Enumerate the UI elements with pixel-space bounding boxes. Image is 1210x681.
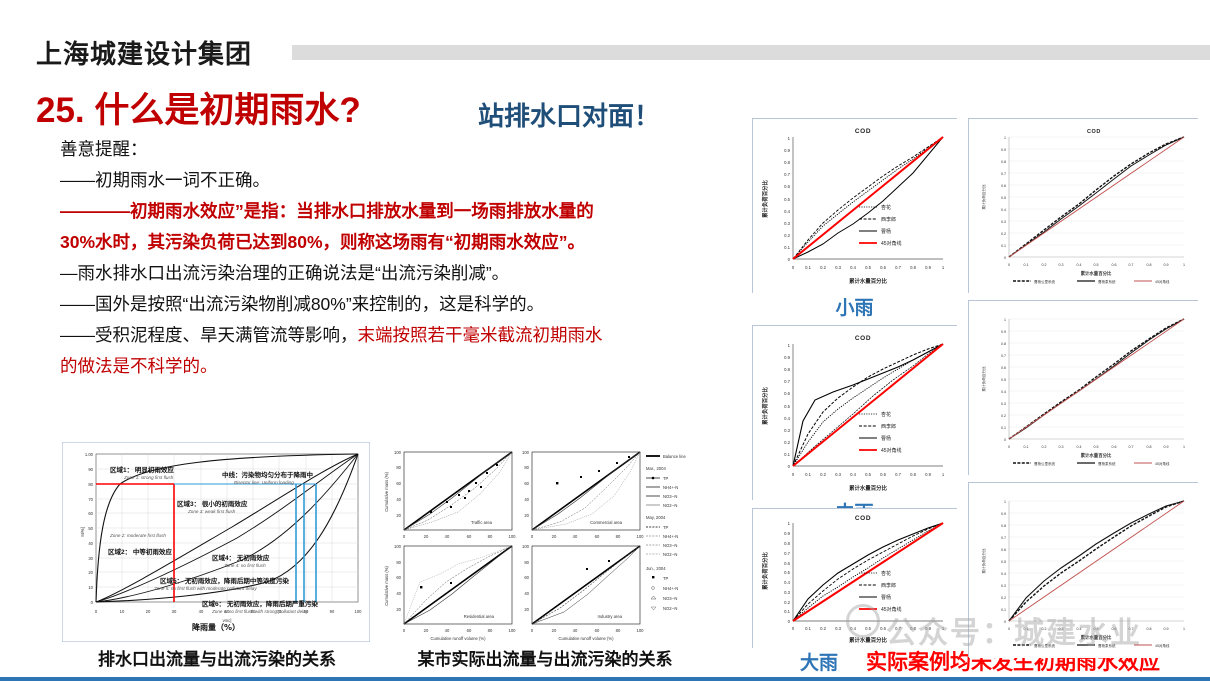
svg-text:0.8: 0.8 <box>1147 445 1152 449</box>
svg-text:0.7: 0.7 <box>1129 263 1134 267</box>
svg-text:0.4: 0.4 <box>1001 208 1006 212</box>
svg-text:0.2: 0.2 <box>820 265 826 270</box>
legend-mar-no3: NO3--N <box>663 494 677 499</box>
header-accent-bar <box>292 45 1210 60</box>
cod-title-1: COD <box>855 128 871 135</box>
cod-ylabel-1: 累计负荷百分比 <box>761 180 769 218</box>
zone-1-label-en: Zone 1: strong first flush <box>124 475 173 480</box>
svg-text:40: 40 <box>445 534 450 539</box>
cod-chart-1-svg: COD 10.90.8 0.70.60.5 0.40.30.2 0.10 00.… <box>753 119 958 294</box>
legend-may-no2: NO2--N <box>663 552 677 557</box>
svg-text:0.2: 0.2 <box>784 600 790 605</box>
svg-text:0.7: 0.7 <box>1001 172 1006 176</box>
svg-text:0.7: 0.7 <box>895 626 901 631</box>
svg-text:0.4: 0.4 <box>1077 627 1082 631</box>
svg-text:80: 80 <box>396 560 401 565</box>
svg-text:0.4: 0.4 <box>784 209 790 214</box>
svg-text:0.9: 0.9 <box>1164 263 1169 267</box>
svg-text:60: 60 <box>595 628 600 633</box>
scatter-panels-svg: 1008060 4020 02040 6080100 Traffic area … <box>380 442 710 642</box>
svg-text:20: 20 <box>552 534 557 539</box>
cod-xlabel-2: 累计水量百分比 <box>849 484 887 492</box>
body-line-7-black: ——受积泥程度、旱天满管流等影响， <box>60 325 358 345</box>
cod-legend-xiliLang-2: 西李郎 <box>881 423 896 430</box>
svg-text:60: 60 <box>467 628 472 633</box>
svg-text:0.9: 0.9 <box>1001 512 1006 516</box>
cod-right-legend-c-1: 45对角线 <box>1155 279 1170 284</box>
body-line-7: ——受积泥程度、旱天满管流等影响，末端按照若干毫米截流初期雨水 <box>60 324 750 346</box>
svg-text:0.2: 0.2 <box>1001 232 1006 236</box>
zone-2-label-cn: 区域2： 中等初雨效应 <box>108 546 172 556</box>
svg-text:80: 80 <box>524 465 529 470</box>
svg-text:20: 20 <box>524 607 529 612</box>
svg-text:0.8: 0.8 <box>784 541 790 546</box>
zone-4-label-en: Zone 4: no first flush <box>224 563 266 568</box>
legend-date-may: May, 2004 <box>646 515 666 520</box>
figure-city-measured: 1008060 4020 02040 6080100 Traffic area … <box>380 442 710 642</box>
svg-text:0.6: 0.6 <box>1001 548 1006 552</box>
svg-text:20: 20 <box>396 607 401 612</box>
cod-chart-light-rain: COD 10.90.8 0.70.60.5 0.40.30.2 0.10 00.… <box>752 118 957 293</box>
scatter-xlabel-right: Cumulative runoff volume (%) <box>558 636 614 641</box>
middle-figure-caption: 某市实际出流量与出流污染的关系 <box>375 645 715 670</box>
cod-legend-xiliLang-3: 西李郎 <box>881 582 896 589</box>
svg-text:0.6: 0.6 <box>1001 366 1006 370</box>
svg-text:0.6: 0.6 <box>880 472 886 477</box>
svg-text:0.9: 0.9 <box>784 148 790 153</box>
svg-text:40: 40 <box>524 591 529 596</box>
svg-text:20: 20 <box>88 570 93 575</box>
svg-text:0.6: 0.6 <box>880 265 886 270</box>
cod-legend-caoyang-3: 曹杨 <box>881 594 891 601</box>
svg-text:60: 60 <box>524 575 529 580</box>
svg-text:0.2: 0.2 <box>784 233 790 238</box>
svg-text:0.1: 0.1 <box>1024 445 1029 449</box>
svg-text:0.1: 0.1 <box>1001 244 1006 248</box>
cod-right-legend-a-1: 曹杨公里系统 <box>1034 279 1055 284</box>
cod-ylabel-3: 累计负荷百分比 <box>761 552 769 590</box>
cod-right-legend-b-3: 曹杨泵系统 <box>1098 643 1116 648</box>
svg-text:0.5: 0.5 <box>784 570 790 575</box>
svg-text:0.5: 0.5 <box>1094 627 1099 631</box>
body-line-6: ——国外是按照“出流污染物削减80%”来控制的，这是科学的。 <box>60 293 750 315</box>
svg-text:100: 100 <box>509 534 517 539</box>
svg-text:100: 100 <box>522 544 530 549</box>
svg-text:0.3: 0.3 <box>1059 263 1064 267</box>
svg-text:0.8: 0.8 <box>1001 342 1006 346</box>
svg-text:40: 40 <box>445 628 450 633</box>
svg-text:0.1: 0.1 <box>784 609 790 614</box>
cod-legend-xiliLang-1: 西李郎 <box>881 216 896 223</box>
svg-text:0.8: 0.8 <box>910 626 916 631</box>
body-text-block: 善意提醒： ——初期雨水一词不正确。 ————初期雨水效应”是指：当排水口排放水… <box>60 138 750 386</box>
svg-text:0.6: 0.6 <box>784 561 790 566</box>
svg-text:0.2: 0.2 <box>784 440 790 445</box>
svg-text:0.5: 0.5 <box>1001 560 1006 564</box>
cod-chart-medium-rain: COD 10.90.8 0.70.60.5 0.40.30.2 0.10 00.… <box>752 325 957 500</box>
svg-text:0.1: 0.1 <box>805 265 811 270</box>
svg-text:0.6: 0.6 <box>1001 184 1006 188</box>
cod-legend-diagonal-3: 45对角线 <box>881 606 902 613</box>
svg-text:0.9: 0.9 <box>1164 627 1169 631</box>
svg-text:100: 100 <box>355 609 363 614</box>
cod-right-1-svg: COD 10.90.8 0.70.60.5 0.40.30.2 0.10 00.… <box>969 119 1199 294</box>
svg-text:0.4: 0.4 <box>1001 572 1006 576</box>
cod-right-2-svg: 10.90.8 0.70.60.5 0.40.30.2 0.10 00.10.2… <box>969 301 1199 476</box>
svg-text:0.5: 0.5 <box>865 265 871 270</box>
zone-y-unit: M/%] <box>80 527 85 537</box>
svg-text:0.1: 0.1 <box>1001 608 1006 612</box>
cod-legend-diagonal-1: 45对角线 <box>881 240 902 247</box>
svg-text:0: 0 <box>1008 445 1010 449</box>
svg-text:80: 80 <box>488 628 493 633</box>
legend-mar-no2: NO2--N <box>663 503 677 508</box>
svg-text:20: 20 <box>552 628 557 633</box>
svg-text:0.2: 0.2 <box>1042 627 1047 631</box>
legend-date-mar: Mar., 2004 <box>646 466 666 471</box>
svg-text:0.7: 0.7 <box>895 472 901 477</box>
cod-right-ylabel-1: 累计负荷百分比 <box>981 184 986 210</box>
cod-right-xlabel-2: 累计水量百分比 <box>1081 452 1112 459</box>
svg-text:0.1: 0.1 <box>1001 426 1006 430</box>
svg-text:0: 0 <box>1004 438 1006 442</box>
svg-text:0.1: 0.1 <box>805 472 811 477</box>
svg-text:0.8: 0.8 <box>910 472 916 477</box>
legend-jun-nh4: NH4+-N <box>663 586 678 591</box>
left-figure-caption: 排水口出流量与出流污染的关系 <box>52 645 382 670</box>
svg-text:0.3: 0.3 <box>835 472 841 477</box>
watermark-logo-icon <box>846 604 880 638</box>
svg-text:0.5: 0.5 <box>1001 378 1006 382</box>
svg-text:1.00: 1.00 <box>85 452 94 457</box>
svg-text:0.1: 0.1 <box>805 626 811 631</box>
svg-text:40: 40 <box>88 541 93 546</box>
cod-right-xlabel-3: 累计水量百分比 <box>1081 634 1112 641</box>
cod-right-legend-c-3: 45对角线 <box>1155 643 1170 648</box>
svg-text:60: 60 <box>88 511 93 516</box>
svg-text:80: 80 <box>524 560 529 565</box>
svg-text:0.4: 0.4 <box>850 265 856 270</box>
svg-text:0.3: 0.3 <box>1001 402 1006 406</box>
svg-text:0.6: 0.6 <box>1112 445 1117 449</box>
scatter-xlabel-left: Cumulative runoff volume (%) <box>430 636 486 641</box>
slide-root: 上海城建设计集团 25. 什么是初期雨水? 站排水口对面！ 善意提醒： ——初期… <box>0 0 1210 681</box>
company-logo-text: 上海城建设计集团 <box>36 34 252 71</box>
svg-text:0.1: 0.1 <box>784 452 790 457</box>
cod-chart-2-svg: COD 10.90.8 0.70.60.5 0.40.30.2 0.10 00.… <box>753 326 958 501</box>
svg-text:100: 100 <box>394 544 402 549</box>
subtitle-callout: 站排水口对面！ <box>478 96 660 133</box>
svg-text:0.2: 0.2 <box>820 626 826 631</box>
body-line-7-red: 末端按照若干毫米截流初期雨水 <box>358 325 603 345</box>
cod-legend-xinghua-3: 杏花 <box>881 570 891 577</box>
svg-text:0.6: 0.6 <box>1112 627 1117 631</box>
svg-text:0.8: 0.8 <box>1147 627 1152 631</box>
svg-text:0.2: 0.2 <box>1001 414 1006 418</box>
svg-text:0.9: 0.9 <box>784 531 790 536</box>
svg-text:1: 1 <box>1004 500 1006 504</box>
svg-text:0.8: 0.8 <box>910 265 916 270</box>
cod-right-legend-a-3: 曹杨公里系统 <box>1034 643 1055 648</box>
svg-text:0.4: 0.4 <box>850 472 856 477</box>
svg-text:0.9: 0.9 <box>925 472 931 477</box>
page-title: 25. 什么是初期雨水? <box>36 82 361 133</box>
svg-text:0.3: 0.3 <box>784 428 790 433</box>
svg-text:0.6: 0.6 <box>784 184 790 189</box>
cod-right-chart-1: COD 10.90.8 0.70.60.5 0.40.30.2 0.10 00.… <box>968 118 1198 293</box>
body-line-4: 30%水时，其污染负荷已达到80%，则称这场雨有“初期雨水效应”。 <box>60 231 750 253</box>
panel-traffic-area: 1008060 4020 02040 6080100 Traffic area … <box>384 450 516 539</box>
svg-text:0.3: 0.3 <box>1001 584 1006 588</box>
body-line-3: ————初期雨水效应”是指：当排水口排放水量到一场雨排放水量的 <box>60 200 750 222</box>
svg-text:0.2: 0.2 <box>820 472 826 477</box>
svg-text:0: 0 <box>1004 256 1006 260</box>
svg-text:100: 100 <box>394 450 402 455</box>
svg-text:1: 1 <box>1183 445 1185 449</box>
cod-right-ylabel-2: 累计负荷百分比 <box>981 366 986 392</box>
cod-xlabel-3: 累计水量百分比 <box>849 636 887 644</box>
svg-text:0.2: 0.2 <box>1042 263 1047 267</box>
svg-text:0.1: 0.1 <box>1024 627 1029 631</box>
svg-text:90: 90 <box>88 467 93 472</box>
cod-title-2: COD <box>855 335 871 342</box>
zone-6-label-en: Zone 6: no first flush with strong pollu… <box>212 609 308 614</box>
svg-text:0.3: 0.3 <box>1059 627 1064 631</box>
svg-text:0.8: 0.8 <box>784 160 790 165</box>
svg-text:0.1: 0.1 <box>784 245 790 250</box>
bisector-label-en: Bisector line: Uniform loading <box>234 480 294 485</box>
body-line-5: —雨水排水口出流污染治理的正确说法是“出流污染削减”。 <box>60 262 750 284</box>
svg-text:0.5: 0.5 <box>784 197 790 202</box>
svg-text:0.7: 0.7 <box>1129 445 1134 449</box>
svg-text:60: 60 <box>396 481 401 486</box>
svg-text:20: 20 <box>146 609 151 614</box>
cod-legend-diagonal-2: 45对角线 <box>881 447 902 454</box>
legend-balance-line: Balance line <box>663 454 686 459</box>
svg-text:40: 40 <box>396 497 401 502</box>
cod-legend-caoyang-2: 曹杨 <box>881 435 891 442</box>
svg-text:80: 80 <box>88 482 93 487</box>
svg-text:0.8: 0.8 <box>1001 160 1006 164</box>
zone-5-label-en: Zone 5: no first flush with moderate pol… <box>154 586 257 591</box>
svg-text:0.4: 0.4 <box>784 580 790 585</box>
cod-right-legend-c-2: 45对角线 <box>1155 461 1170 466</box>
svg-text:40: 40 <box>396 591 401 596</box>
svg-text:60: 60 <box>467 534 472 539</box>
legend-jun-no3: NO3--N <box>663 596 677 601</box>
svg-text:50: 50 <box>88 526 93 531</box>
zone-6-label-cn: 区域6： 无初雨效应，降雨后期严重污染 <box>202 598 318 608</box>
body-line-1: 善意提醒： <box>60 138 750 160</box>
cod-right-3-svg: 10.90.8 0.70.60.5 0.40.30.2 0.10 00.10.2… <box>969 483 1199 658</box>
cod-right-chart-2: 10.90.8 0.70.60.5 0.40.30.2 0.10 00.10.2… <box>968 300 1198 475</box>
svg-text:0.3: 0.3 <box>835 626 841 631</box>
scatter-ylabel-bottom: Cumulative mass (%) <box>384 566 389 606</box>
svg-text:30: 30 <box>88 556 93 561</box>
svg-text:0.9: 0.9 <box>784 355 790 360</box>
svg-text:0.2: 0.2 <box>1001 596 1006 600</box>
svg-text:0.4: 0.4 <box>1077 445 1082 449</box>
svg-text:0.6: 0.6 <box>1112 263 1117 267</box>
svg-text:20: 20 <box>524 513 529 518</box>
zone-5-label-cn: 区域5： 无初雨效应，降雨后期中等浓度污染 <box>160 575 289 585</box>
svg-text:0.3: 0.3 <box>784 221 790 226</box>
bottom-accent-rule <box>0 677 1210 681</box>
svg-text:0.5: 0.5 <box>1094 445 1099 449</box>
svg-text:0.8: 0.8 <box>1147 263 1152 267</box>
svg-text:0.5: 0.5 <box>865 472 871 477</box>
cod-title-3: COD <box>855 515 871 522</box>
cod-right-legend-a-2: 曹杨公里系统 <box>1034 461 1055 466</box>
panel-label-industry: Industry area <box>598 614 623 619</box>
cod-right-xlabel-1: 累计水量百分比 <box>1081 270 1112 277</box>
legend-may-no3: NO3--N <box>663 543 677 548</box>
cod-right-chart-3: 10.90.8 0.70.60.5 0.40.30.2 0.10 00.10.2… <box>968 482 1198 657</box>
cod-right-title-1: COD <box>1087 129 1101 135</box>
body-line-2: ——初期雨水一词不正确。 <box>60 169 750 191</box>
svg-text:0.7: 0.7 <box>784 172 790 177</box>
cod-legend-xinghua-2: 杏花 <box>881 411 891 418</box>
body-line-8: 的做法是不科学的。 <box>60 355 750 377</box>
svg-text:1: 1 <box>1183 263 1185 267</box>
zone-1-label-cn: 区域1： 明显初雨效应 <box>110 464 174 474</box>
bisector-label-cn: 中线：污染物均匀分布于降雨中 <box>222 469 313 479</box>
svg-text:0.6: 0.6 <box>880 626 886 631</box>
svg-text:1: 1 <box>1183 627 1185 631</box>
svg-text:0.4: 0.4 <box>1077 263 1082 267</box>
svg-text:100: 100 <box>522 450 530 455</box>
svg-text:80: 80 <box>616 534 621 539</box>
zone-3-label-cn: 区域3： 很小的初雨效应 <box>177 498 247 508</box>
svg-text:100: 100 <box>637 628 645 633</box>
rain-label-light: 小雨 <box>752 293 957 320</box>
svg-text:40: 40 <box>573 628 578 633</box>
svg-text:100: 100 <box>637 534 645 539</box>
figure-outflow-zones: 1.009080 706050 403020 100 01020 304050 … <box>62 442 370 642</box>
zone-4-label-cn: 区域4： 无初雨效应 <box>212 552 269 562</box>
panel-label-residential: Residential area <box>464 614 495 619</box>
svg-text:0: 0 <box>1008 263 1010 267</box>
svg-text:0.8: 0.8 <box>784 367 790 372</box>
svg-text:0.4: 0.4 <box>784 416 790 421</box>
svg-text:90: 90 <box>330 609 335 614</box>
cod-right-legend-b-1: 曹杨泵系统 <box>1098 279 1116 284</box>
svg-text:0.7: 0.7 <box>1001 536 1006 540</box>
svg-text:100: 100 <box>509 628 517 633</box>
svg-text:0.6: 0.6 <box>784 391 790 396</box>
legend-may-nh4: NH4+-N <box>663 534 678 539</box>
legend-mar-nh4: NH4+-N <box>663 485 678 490</box>
svg-text:1: 1 <box>1004 136 1006 140</box>
panel-commercial-area: 1008060 4020 02040 6080100 Commercial ar… <box>522 450 644 539</box>
legend-may-tp: TP <box>663 525 669 530</box>
svg-text:1: 1 <box>1004 318 1006 322</box>
svg-text:40: 40 <box>573 534 578 539</box>
svg-text:0.9: 0.9 <box>1164 445 1169 449</box>
svg-text:10: 10 <box>88 585 93 590</box>
panel-label-traffic: Traffic area <box>471 520 493 525</box>
svg-text:0.5: 0.5 <box>1094 263 1099 267</box>
rain-label-heavy: 大雨 <box>800 648 860 675</box>
svg-text:0.3: 0.3 <box>835 265 841 270</box>
cod-right-ylabel-3: 累计负荷百分比 <box>981 548 986 574</box>
svg-text:0.2: 0.2 <box>1042 445 1047 449</box>
svg-text:0.7: 0.7 <box>1129 627 1134 631</box>
svg-text:20: 20 <box>424 628 429 633</box>
svg-text:0.9: 0.9 <box>1001 148 1006 152</box>
cod-legend-xinghua-1: 杏花 <box>881 204 891 211</box>
svg-text:0.3: 0.3 <box>1001 220 1006 224</box>
left-figure-xlabel: 降雨量（%） <box>62 622 370 633</box>
zone-2-label-en: Zone 2: moderate first flush <box>110 533 166 538</box>
svg-text:0.7: 0.7 <box>784 379 790 384</box>
svg-text:80: 80 <box>396 465 401 470</box>
panel-label-commercial: Commercial area <box>590 520 623 525</box>
svg-text:0.5: 0.5 <box>1001 196 1006 200</box>
svg-text:0.9: 0.9 <box>1001 330 1006 334</box>
svg-text:70: 70 <box>88 497 93 502</box>
svg-text:80: 80 <box>488 534 493 539</box>
svg-text:60: 60 <box>396 575 401 580</box>
svg-text:0.3: 0.3 <box>784 590 790 595</box>
svg-text:0.9: 0.9 <box>925 626 931 631</box>
legend-date-jun: Jun., 2004 <box>646 566 666 571</box>
legend-mar-tp: TP <box>663 476 669 481</box>
legend-jun-tp: TP <box>663 576 669 581</box>
svg-text:30: 30 <box>172 609 177 614</box>
svg-text:60: 60 <box>524 481 529 486</box>
zone-3-label-en: Zone 3: weak first flush <box>188 509 235 514</box>
scatter-ylabel-top: Cumulative mass (%) <box>384 472 389 512</box>
cod-legend-caoyang-1: 曹杨 <box>881 228 891 235</box>
svg-text:0.8: 0.8 <box>1001 524 1006 528</box>
svg-text:0: 0 <box>1008 627 1010 631</box>
svg-text:40: 40 <box>199 609 204 614</box>
cod-xlabel-1: 累计水量百分比 <box>849 277 887 285</box>
svg-text:10: 10 <box>120 609 125 614</box>
legend-jun-no2: NO2--N <box>663 606 677 611</box>
cod-right-legend-b-2: 曹杨泵系统 <box>1098 461 1116 466</box>
svg-text:0.3: 0.3 <box>1059 445 1064 449</box>
svg-text:0.5: 0.5 <box>784 404 790 409</box>
svg-text:0.7: 0.7 <box>895 265 901 270</box>
svg-text:20: 20 <box>396 513 401 518</box>
svg-text:60: 60 <box>595 534 600 539</box>
svg-text:0.4: 0.4 <box>1001 390 1006 394</box>
svg-text:0: 0 <box>1004 620 1006 624</box>
svg-text:0.7: 0.7 <box>1001 354 1006 358</box>
svg-text:0.9: 0.9 <box>925 265 931 270</box>
svg-text:40: 40 <box>524 497 529 502</box>
cod-ylabel-2: 累计负荷百分比 <box>761 387 769 425</box>
svg-text:0.7: 0.7 <box>784 551 790 556</box>
svg-text:0.1: 0.1 <box>1024 263 1029 267</box>
svg-text:20: 20 <box>424 534 429 539</box>
svg-text:80: 80 <box>616 628 621 633</box>
